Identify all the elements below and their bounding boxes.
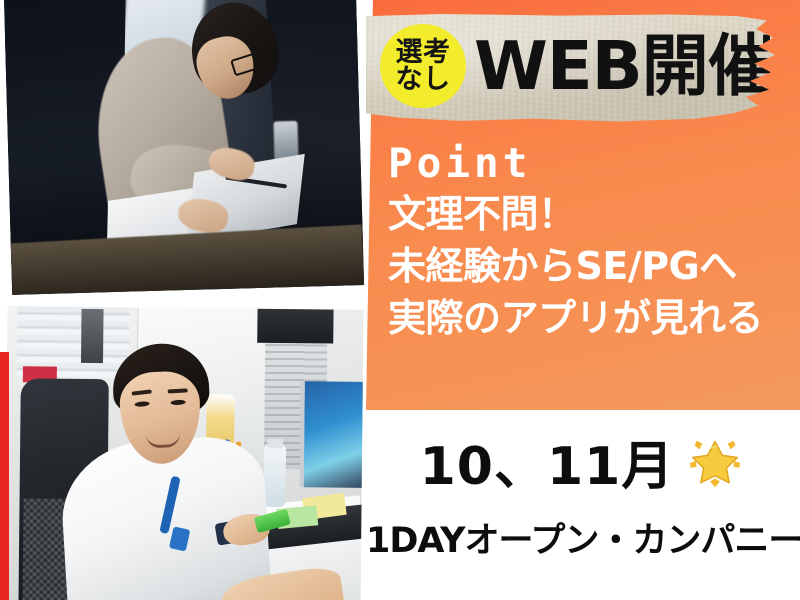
photo-bottom-rack-top-panel — [257, 307, 333, 344]
torn-paper-banner: 選考 なし WEB開催 — [366, 14, 788, 122]
photo-bottom-monitor — [300, 381, 364, 488]
event-date-row: 10、11月 — [366, 424, 800, 499]
point-line-2: 未経験からSE/PGへ — [388, 240, 798, 292]
glowing-star-icon — [684, 431, 746, 493]
badge-line-1: 選考 — [396, 39, 451, 66]
recruitment-poster: 選考 なし WEB開催 Point 文理不問！ 未経験からSE/PGへ 実際のア… — [0, 0, 800, 600]
photo-bottom-bottle-cap — [267, 439, 283, 448]
event-date-text: 10、11月 — [420, 424, 675, 499]
photo-column — [0, 0, 372, 600]
photo-top-office-typing — [4, 0, 364, 295]
red-accent-strip — [0, 352, 9, 600]
badge-line-2: なし — [396, 66, 451, 93]
no-screening-badge: 選考 なし — [380, 24, 466, 108]
banner-title: WEB開催 — [474, 22, 774, 110]
photo-bottom-binder — [81, 309, 104, 363]
point-line-3: 実際のアプリが見れる — [388, 292, 798, 344]
point-label: Point — [388, 138, 798, 188]
photo-bottom-office-portrait — [4, 306, 363, 600]
point-line-1: 文理不問！ — [388, 188, 798, 240]
photo-bottom-water-bottle — [263, 445, 286, 507]
point-block: Point 文理不問！ 未経験からSE/PGへ 実際のアプリが見れる — [388, 138, 798, 344]
event-subtitle: 1DAYオープン・カンパニー — [366, 512, 800, 563]
